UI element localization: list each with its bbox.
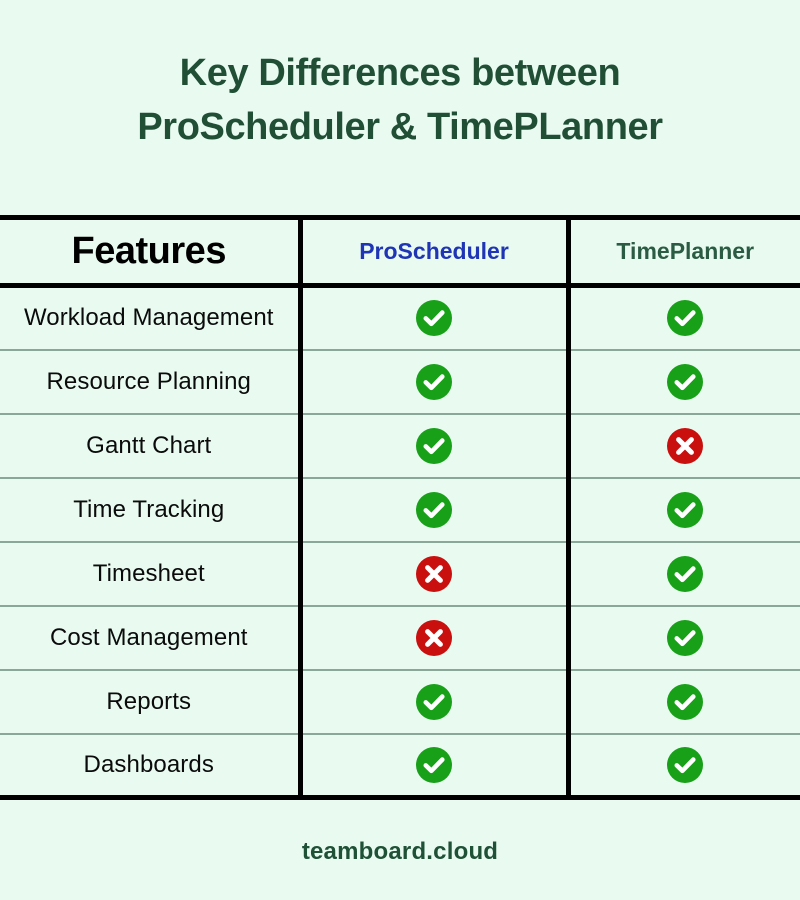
timeplanner-support-cell bbox=[568, 606, 800, 670]
check-circle-icon bbox=[666, 299, 704, 337]
proscheduler-support-cell bbox=[300, 542, 568, 606]
check-circle-icon bbox=[415, 746, 453, 784]
timeplanner-support-cell bbox=[568, 734, 800, 798]
check-circle-icon bbox=[666, 683, 704, 721]
feature-label: Reports bbox=[0, 670, 300, 734]
title-line-2: ProScheduler & TimePLanner bbox=[0, 100, 800, 154]
check-circle-icon bbox=[415, 683, 453, 721]
table-row: Gantt Chart bbox=[0, 414, 800, 478]
table-header: Features ProScheduler TimePlanner bbox=[0, 218, 800, 286]
timeplanner-support-cell bbox=[568, 670, 800, 734]
feature-label: Dashboards bbox=[0, 734, 300, 798]
timeplanner-support-cell bbox=[568, 478, 800, 542]
proscheduler-support-cell bbox=[300, 734, 568, 798]
footer-brand: teamboard.cloud bbox=[302, 838, 498, 865]
column-header-proscheduler: ProScheduler bbox=[300, 218, 568, 286]
comparison-infographic: Key Differences between ProScheduler & T… bbox=[0, 0, 800, 900]
table-body: Workload ManagementResource PlanningGant… bbox=[0, 286, 800, 798]
proscheduler-support-cell bbox=[300, 478, 568, 542]
check-circle-icon bbox=[666, 491, 704, 529]
feature-label: Gantt Chart bbox=[0, 414, 300, 478]
table-row: Reports bbox=[0, 670, 800, 734]
feature-label: Time Tracking bbox=[0, 478, 300, 542]
column-header-timeplanner: TimePlanner bbox=[568, 218, 800, 286]
timeplanner-support-cell bbox=[568, 414, 800, 478]
footer: teamboard.cloud bbox=[0, 838, 800, 866]
cross-circle-icon bbox=[666, 427, 704, 465]
check-circle-icon bbox=[666, 746, 704, 784]
page-title: Key Differences between ProScheduler & T… bbox=[0, 0, 800, 154]
proscheduler-support-cell bbox=[300, 414, 568, 478]
cross-circle-icon bbox=[415, 619, 453, 657]
table-row: Workload Management bbox=[0, 286, 800, 350]
feature-label: Cost Management bbox=[0, 606, 300, 670]
timeplanner-support-cell bbox=[568, 350, 800, 414]
check-circle-icon bbox=[666, 555, 704, 593]
check-circle-icon bbox=[415, 363, 453, 401]
feature-label: Timesheet bbox=[0, 542, 300, 606]
check-circle-icon bbox=[666, 363, 704, 401]
timeplanner-support-cell bbox=[568, 542, 800, 606]
check-circle-icon bbox=[415, 427, 453, 465]
timeplanner-support-cell bbox=[568, 286, 800, 350]
title-line-1: Key Differences between bbox=[0, 46, 800, 100]
cross-circle-icon bbox=[415, 555, 453, 593]
table-row: Time Tracking bbox=[0, 478, 800, 542]
feature-label: Workload Management bbox=[0, 286, 300, 350]
check-circle-icon bbox=[415, 491, 453, 529]
table-header-row: Features ProScheduler TimePlanner bbox=[0, 218, 800, 286]
proscheduler-support-cell bbox=[300, 350, 568, 414]
check-circle-icon bbox=[666, 619, 704, 657]
feature-label: Resource Planning bbox=[0, 350, 300, 414]
table-row: Cost Management bbox=[0, 606, 800, 670]
table-row: Resource Planning bbox=[0, 350, 800, 414]
table-row: Dashboards bbox=[0, 734, 800, 798]
proscheduler-support-cell bbox=[300, 606, 568, 670]
column-header-features: Features bbox=[0, 218, 300, 286]
proscheduler-support-cell bbox=[300, 670, 568, 734]
check-circle-icon bbox=[415, 299, 453, 337]
comparison-table: Features ProScheduler TimePlanner Worklo… bbox=[0, 215, 800, 800]
proscheduler-support-cell bbox=[300, 286, 568, 350]
table-row: Timesheet bbox=[0, 542, 800, 606]
